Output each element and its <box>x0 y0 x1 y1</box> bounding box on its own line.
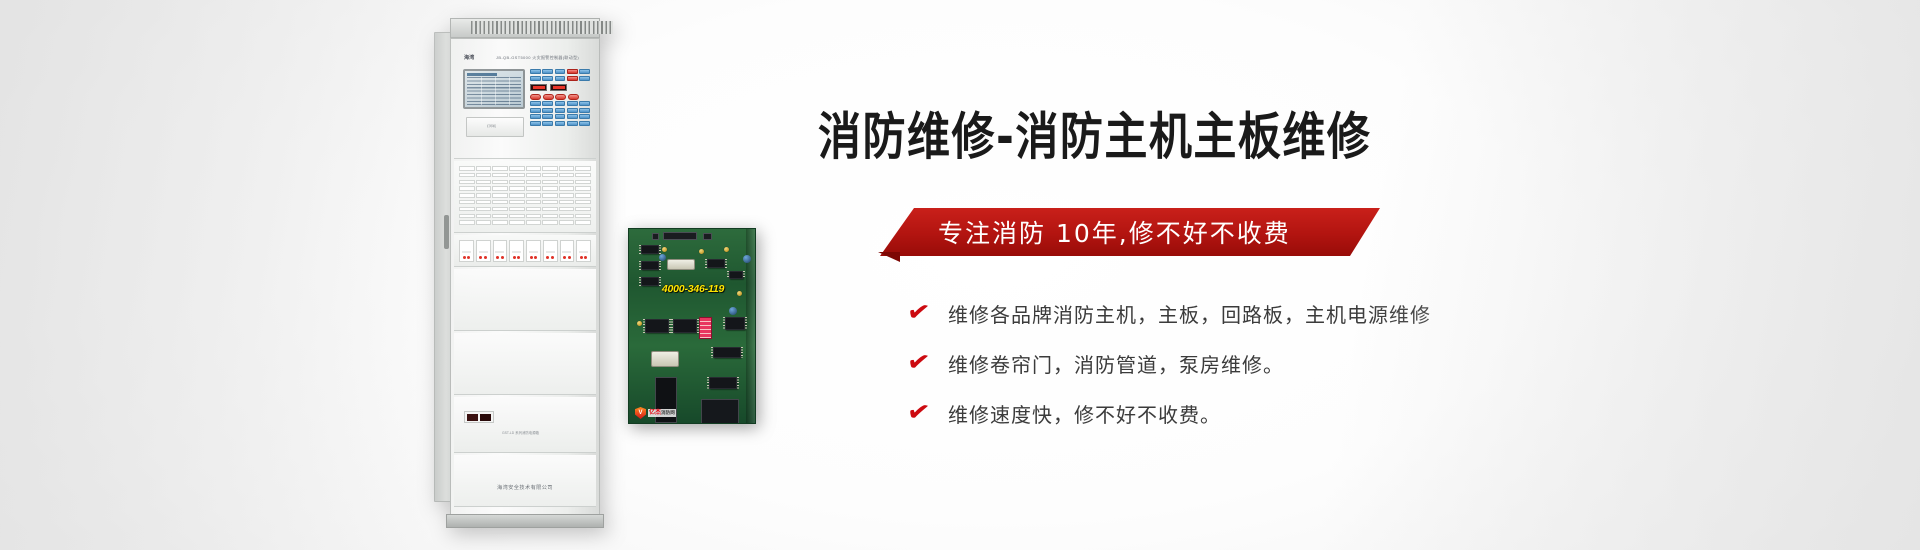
pcb-electrolytic-cap <box>743 255 751 263</box>
cabinet-power-supply-panel: GST-LD 系列消防电源箱 <box>454 397 596 453</box>
lcd-text-rows <box>467 77 521 105</box>
pcb-ic-chip <box>707 259 725 268</box>
feature-list: ✔ 维修各品牌消防主机，主板，回路板，主机电源维修 ✔ 维修卷帘门，消防管道，泵… <box>908 288 1728 438</box>
pcb-dip-switch <box>699 317 712 339</box>
pcb-capacitor <box>724 247 729 252</box>
cabinet-body: 海湾 JB-QB-GST5000 火灾报警控制器(联动型) 打印机 <box>450 38 600 516</box>
fire-panel-mainboard-pcb: 4000-346-119 V 亿杰消防网 <box>628 228 756 424</box>
pcb-crystal-oscillator <box>667 259 695 270</box>
tagline-ribbon: 专注消防 10年,修不好不收费 <box>880 208 1380 256</box>
cabinet-blank-panel-1 <box>454 269 596 331</box>
cabinet-blank-panel-2 <box>454 333 596 395</box>
list-item: ✔ 维修卷帘门，消防管道，泵房维修。 <box>908 338 1728 388</box>
pcb-ic-chip <box>641 261 659 270</box>
list-item-label: 维修卷帘门，消防管道，泵房维修。 <box>948 349 1284 378</box>
pcb-ic-chip <box>729 271 743 279</box>
pcb-crystal-oscillator-2 <box>651 351 679 367</box>
check-icon: ✔ <box>905 397 950 429</box>
list-item: ✔ 维修速度快，修不好不收费。 <box>908 388 1728 438</box>
pcb-connector-header <box>663 232 697 240</box>
list-item-label: 维修速度快，修不好不收费。 <box>948 399 1221 428</box>
cabinet-base <box>446 514 604 528</box>
cabinet-control-face: 海湾 JB-QB-GST5000 火灾报警控制器(联动型) 打印机 <box>454 43 596 159</box>
lcd-title-bar <box>467 73 497 76</box>
printer-label: 打印机 <box>487 124 496 128</box>
pcb-dip-ic <box>709 377 737 389</box>
pcb-capacitor <box>662 247 667 252</box>
cabinet-model-label: JB-QB-GST5000 火灾报警控制器(联动型) <box>496 55 579 61</box>
cabinet-lcd-screen <box>463 69 525 109</box>
pcb-capacitor <box>699 249 704 254</box>
pcb-dip-ic <box>713 347 741 358</box>
psu-label: GST-LD 系列消防电源箱 <box>502 430 539 435</box>
pcb-connector-small <box>703 233 712 240</box>
check-icon: ✔ <box>905 347 950 379</box>
ribbon-tail <box>880 208 920 256</box>
cabinet-top-vent <box>450 18 600 38</box>
cabinet-keypad <box>530 69 590 151</box>
fire-alarm-control-cabinet: 海湾 JB-QB-GST5000 火灾报警控制器(联动型) 打印机 <box>434 18 599 518</box>
list-item: ✔ 维修各品牌消防主机，主板，回路板，主机电源维修 <box>908 288 1728 338</box>
printer-door-flap: 打印机 <box>466 117 524 137</box>
cabinet-brand-mark: 海湾 <box>464 54 474 61</box>
ribbon-label: 专注消防 10年,修不好不收费 <box>938 208 1291 256</box>
pcb-processor <box>701 399 739 424</box>
cabinet-handle-icon <box>444 215 449 249</box>
pcb-electrolytic-cap <box>729 307 737 315</box>
cabinet-7segment-displays <box>530 84 590 91</box>
check-icon: ✔ <box>905 297 950 329</box>
pcb-dip-ic <box>645 319 669 333</box>
pcb-logo-text: 亿杰消防网 <box>648 409 676 417</box>
pcb-dip-ic <box>725 317 745 330</box>
pcb-watermark-logo: V 亿杰消防网 <box>635 407 676 419</box>
pcb-electrolytic-cap <box>659 254 666 261</box>
promo-banner: 海湾 JB-QB-GST5000 火灾报警控制器(联动型) 打印机 <box>0 0 1920 550</box>
cabinet-blank-panel-3 <box>454 455 596 507</box>
pcb-phone-overlay: 4000-346-119 <box>641 283 745 295</box>
list-item-label: 维修各品牌消防主机，主板，回路板，主机电源维修 <box>948 299 1431 328</box>
pcb-ic-chip <box>641 245 659 254</box>
cabinet-footer-label: 海湾安全技术有限公司 <box>451 484 599 491</box>
pcb-connector-small-2 <box>652 233 659 240</box>
shield-icon: V <box>635 407 646 419</box>
product-photo-group: 海湾 JB-QB-GST5000 火灾报警控制器(联动型) 打印机 <box>390 0 810 550</box>
cabinet-zone-label-panel <box>454 161 596 233</box>
pcb-capacitor <box>637 321 642 326</box>
cabinet-indicator-led-row <box>454 235 596 267</box>
page-title: 消防维修-消防主机主板维修 <box>818 96 1371 169</box>
psu-display <box>464 411 494 423</box>
vent-grill-icon <box>471 21 613 34</box>
banner-content: 消防维修-消防主机主板维修 专注消防 10年,修不好不收费 ✔ 维修各品牌消防主… <box>800 0 1810 550</box>
pcb-dip-ic <box>673 319 697 333</box>
